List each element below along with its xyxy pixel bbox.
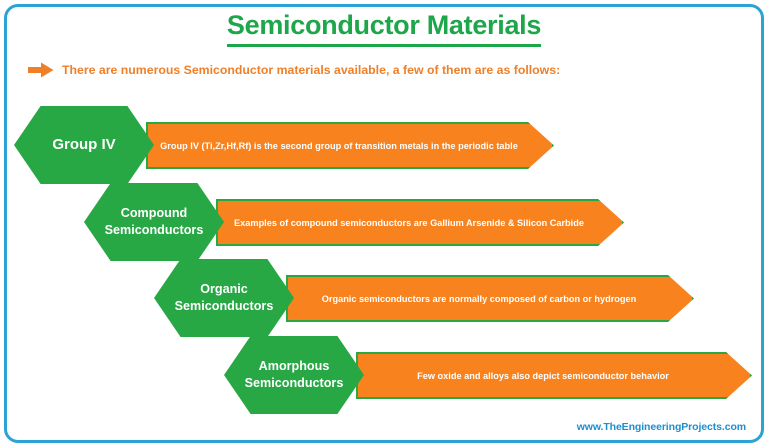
category-hexagon: Group IV <box>14 106 154 184</box>
category-hexagon: Compound Semiconductors <box>84 183 224 261</box>
category-row: Examples of compound semiconductors are … <box>84 183 624 261</box>
category-label: Organic Semiconductors <box>171 281 278 315</box>
description-banner-inner: Group IV (Ti,Zr,Hf,Rf) is the second gro… <box>148 124 552 167</box>
category-hexagon: Organic Semiconductors <box>154 259 294 337</box>
category-row: Organic semiconductors are normally comp… <box>154 259 694 337</box>
category-label-line2: Semiconductors <box>105 223 204 237</box>
description-text: Examples of compound semiconductors are … <box>234 218 584 228</box>
category-label-line2: Semiconductors <box>245 376 344 390</box>
category-row: Few oxide and alloys also depict semicon… <box>224 336 752 414</box>
description-text: Organic semiconductors are normally comp… <box>322 294 636 304</box>
intro-text: There are numerous Semiconductor materia… <box>62 63 560 77</box>
infographic-canvas: Semiconductor Materials There are numero… <box>0 0 768 447</box>
category-label-line1: Amorphous <box>259 359 330 373</box>
description-banner: Group IV (Ti,Zr,Hf,Rf) is the second gro… <box>146 122 554 169</box>
page-title: Semiconductor Materials <box>227 10 541 47</box>
description-banner-inner: Organic semiconductors are normally comp… <box>288 277 692 320</box>
description-banner: Examples of compound semiconductors are … <box>216 199 624 246</box>
category-label-line2: Semiconductors <box>175 299 274 313</box>
category-label: Amorphous Semiconductors <box>241 358 348 392</box>
description-banner: Few oxide and alloys also depict semicon… <box>356 352 752 399</box>
description-text: Few oxide and alloys also depict semicon… <box>417 371 669 381</box>
category-label-line1: Compound <box>121 206 187 220</box>
description-text: Group IV (Ti,Zr,Hf,Rf) is the second gro… <box>160 141 518 151</box>
category-hexagon: Amorphous Semiconductors <box>224 336 364 414</box>
arrow-right-icon <box>28 62 54 78</box>
intro-row: There are numerous Semiconductor materia… <box>28 62 560 78</box>
category-label-line1: Organic <box>200 282 248 296</box>
site-watermark: www.TheEngineeringProjects.com <box>577 421 746 433</box>
category-row: Group IV (Ti,Zr,Hf,Rf) is the second gro… <box>14 106 554 184</box>
page-title-container: Semiconductor Materials <box>0 10 768 47</box>
description-banner-inner: Few oxide and alloys also depict semicon… <box>358 354 750 397</box>
description-banner-inner: Examples of compound semiconductors are … <box>218 201 622 244</box>
description-banner: Organic semiconductors are normally comp… <box>286 275 694 322</box>
category-label: Compound Semiconductors <box>101 205 208 239</box>
category-label: Group IV <box>48 135 119 155</box>
